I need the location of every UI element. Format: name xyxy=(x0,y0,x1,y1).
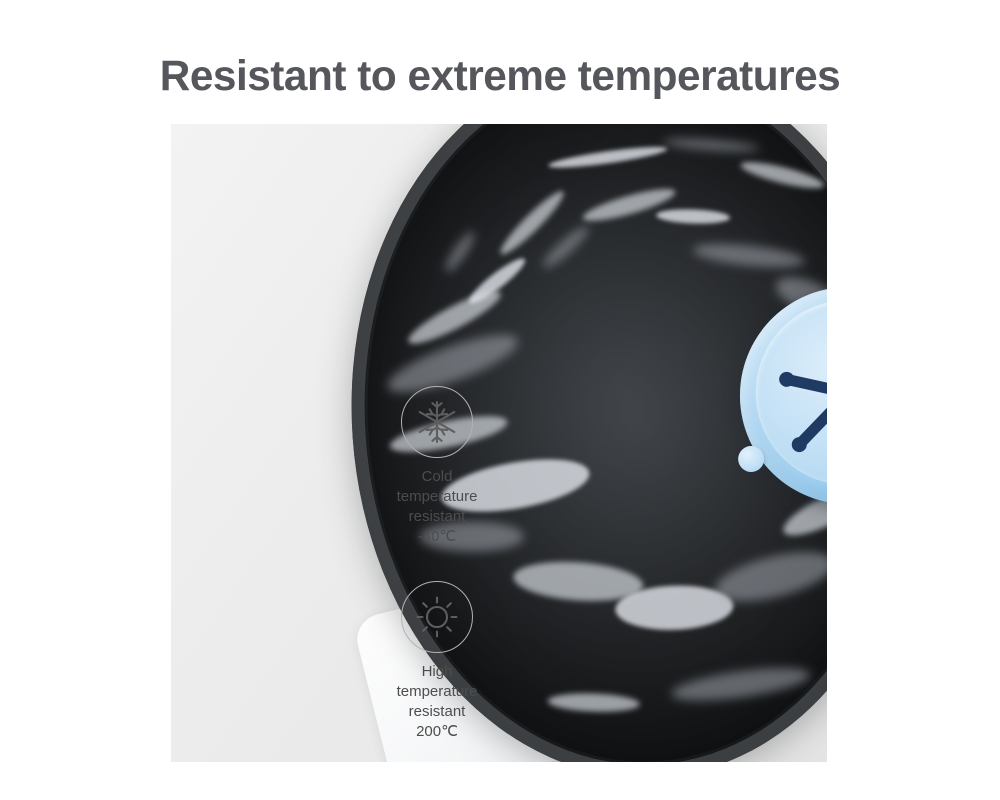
snowflake-icon xyxy=(414,399,460,445)
product-photo: Cold temperature resistant -40℃ High tem… xyxy=(171,124,827,762)
page-title: Resistant to extreme temperatures xyxy=(8,52,993,101)
sun-icon xyxy=(414,594,460,640)
feature-cold-caption: Cold temperature resistant -40℃ xyxy=(357,467,517,547)
sun-icon-circle xyxy=(401,581,473,653)
snowflake-icon-circle xyxy=(401,386,473,458)
feature-heat-caption: High temperature resistant 200℃ xyxy=(357,662,517,742)
feature-heat-resistance: High temperature resistant 200℃ xyxy=(357,581,517,742)
feature-cold-resistance: Cold temperature resistant -40℃ xyxy=(357,386,517,547)
